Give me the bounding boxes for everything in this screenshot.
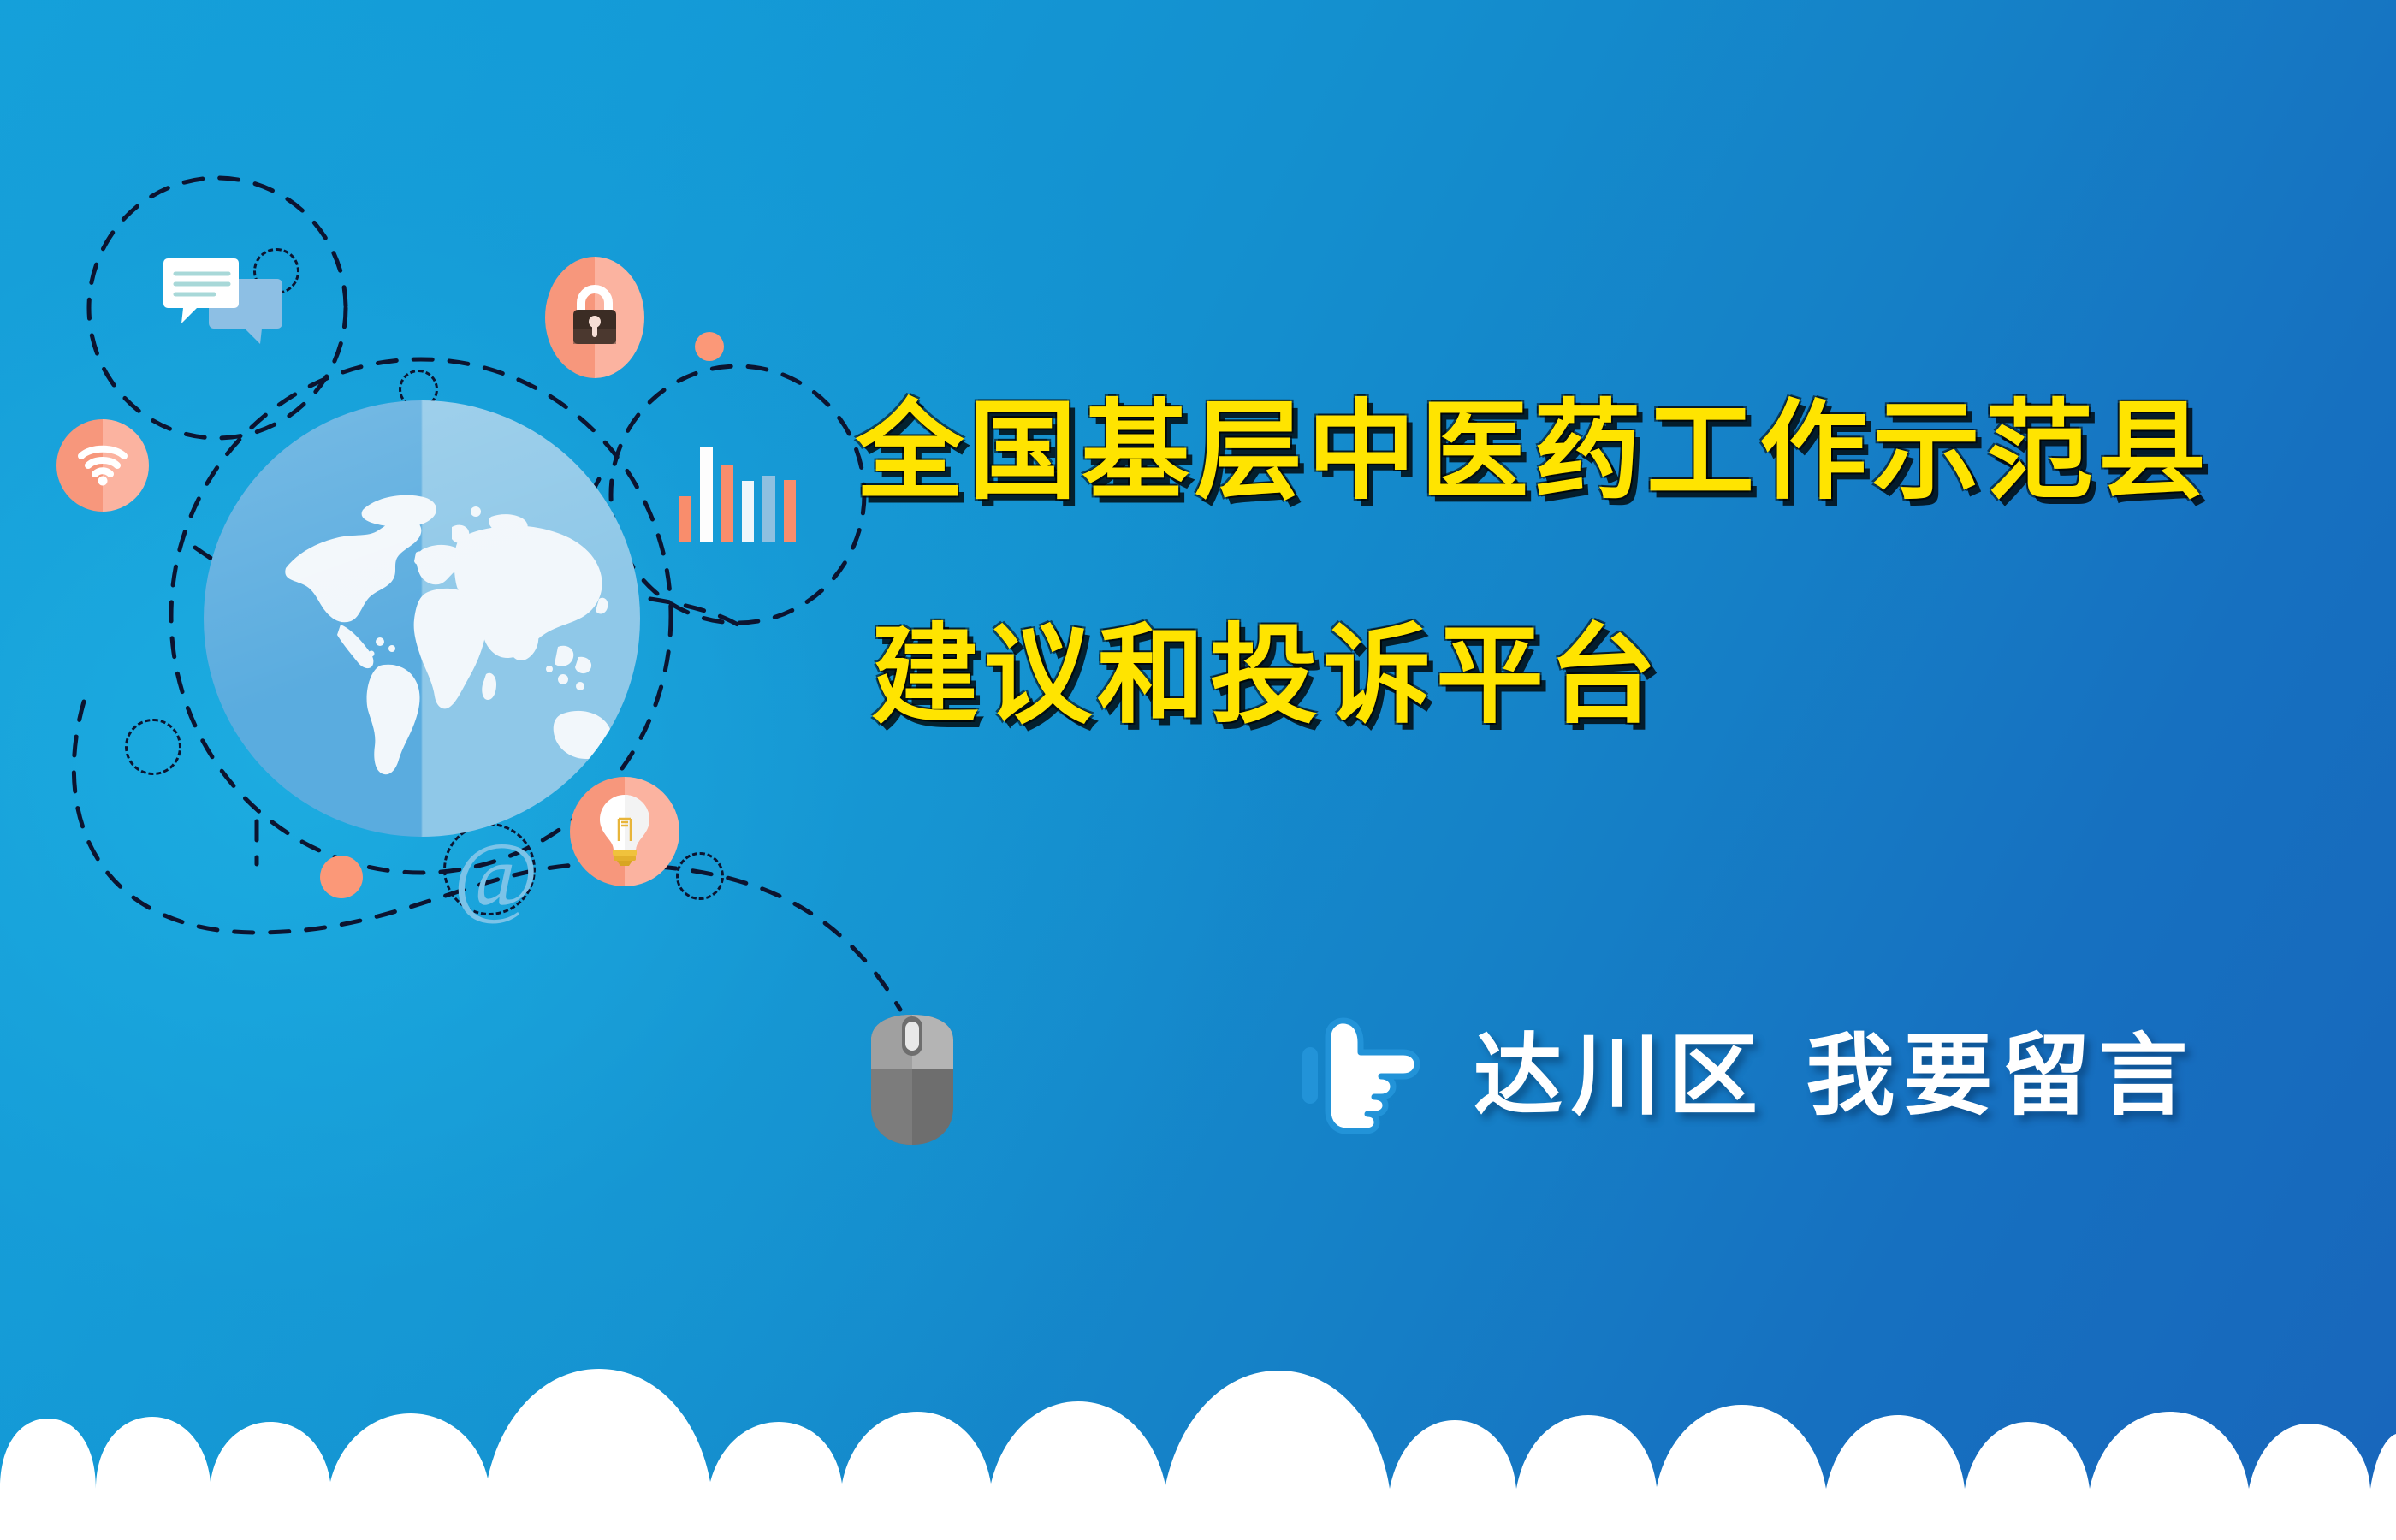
banner-canvas: @ — [0, 0, 2396, 1540]
cta-label: 达川区 我要留言 — [1474, 1031, 2196, 1120]
bar-chart-bar — [700, 447, 712, 542]
wifi-icon-badge — [56, 419, 149, 512]
leave-message-cta[interactable]: 达川区 我要留言 — [1301, 1011, 2196, 1140]
decor-dashed-circle-5 — [676, 852, 724, 900]
bar-chart-bar — [679, 496, 691, 542]
bar-chart-bar — [784, 480, 796, 542]
bar-chart-bar — [721, 465, 733, 542]
decor-dashed-circle-3 — [125, 719, 181, 775]
lightbulb-icon-badge — [570, 777, 679, 886]
bar-chart-bar — [762, 476, 774, 542]
at-sign-icon: @ — [454, 830, 538, 922]
lock-icon — [566, 282, 623, 353]
computer-mouse-icon — [866, 1011, 958, 1148]
headline-block: 全国基层中医药工作示范县 建议和投诉平台 — [856, 387, 2310, 741]
bar-chart-icon — [679, 447, 796, 542]
bar-chart-bar — [742, 481, 754, 542]
pointing-hand-icon — [1301, 1011, 1420, 1140]
lightbulb-icon — [598, 793, 651, 871]
headline-line-2: 建议和投诉平台 — [871, 611, 2310, 741]
wifi-icon — [76, 441, 129, 490]
headline-line-1: 全国基层中医药工作示范县 — [856, 387, 2310, 517]
lock-icon-badge — [545, 257, 644, 378]
cloud-decoration — [0, 1232, 2396, 1540]
world-globe — [204, 400, 640, 837]
decor-dot-1 — [695, 332, 724, 361]
decor-dot-2 — [320, 856, 363, 898]
chat-bubbles-icon — [161, 257, 289, 358]
